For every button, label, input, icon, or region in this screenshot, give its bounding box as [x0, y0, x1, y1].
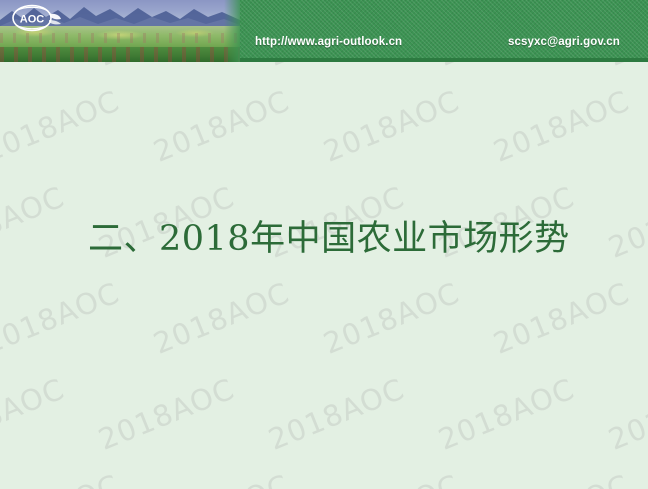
slide-title: 二、2018年中国农业市场形势	[88, 218, 578, 260]
header-website-url[interactable]: http://www.agri-outlook.cn	[255, 36, 402, 48]
slide-body: 二、2018年中国农业市场形势	[0, 62, 648, 489]
svg-text:AOC: AOC	[20, 14, 45, 26]
slide-header: AOC http://www.agri-outlook.cn scsyxc@ag…	[0, 0, 648, 62]
photo-edge-fade	[224, 0, 240, 62]
header-email-address[interactable]: scsyxc@agri.gov.cn	[508, 36, 620, 48]
presentation-slide: 2018AOC2018AOC2018AOC2018AOC2018AOC2018A…	[0, 0, 648, 489]
photo-villages	[0, 33, 240, 43]
aoc-logo-icon: AOC	[10, 4, 62, 32]
photo-foreground	[0, 47, 240, 62]
